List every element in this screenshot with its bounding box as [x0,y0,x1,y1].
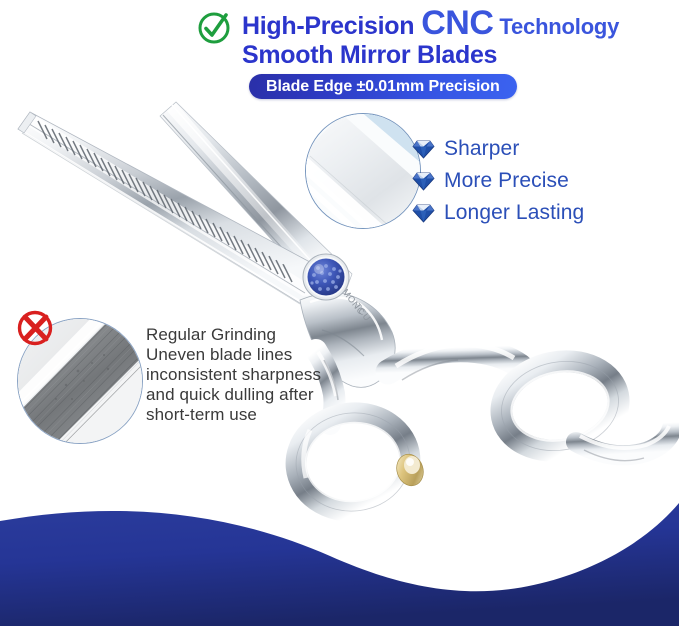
drawback-line: and quick dulling after [146,385,356,405]
product-feature-graphic: MONC TCU [0,0,679,626]
precision-badge: Blade Edge ±0.01mm Precision [249,74,517,99]
diamond-icon [412,171,435,191]
benefits-list: Sharper More Precise Longer Last [412,134,662,230]
green-check-circle-icon [196,10,232,46]
headline-block: High-PrecisionCNCTechnology Smooth Mirro… [196,4,679,70]
drawback-text-block: Regular Grinding Uneven blade lines inco… [146,325,356,425]
benefit-item-longer-lasting: Longer Lasting [412,198,662,228]
thinning-blade [18,112,336,304]
headline-smooth-mirror-blades: Smooth Mirror Blades [242,41,497,69]
drawback-line: short-term use [146,405,356,425]
precision-badge-label: Blade Edge ±0.01mm Precision [266,79,500,95]
drawback-line: Regular Grinding [146,325,356,345]
benefit-item-sharper: Sharper [412,134,662,164]
drawback-line: Uneven blade lines [146,345,356,365]
headline-high-precision: High-Precision [242,12,414,40]
red-x-circle-icon [15,308,55,348]
headline-technology: Technology [499,14,619,39]
headline-cnc: CNC [421,4,493,42]
drawback-line: inconsistent sharpness [146,365,356,385]
pivot-screw-gem-icon [303,254,349,300]
benefit-label: Sharper [444,137,519,161]
benefit-label: Longer Lasting [444,201,584,225]
diamond-icon [412,203,435,223]
smooth-mirror-blade-closeup [305,113,421,229]
diamond-icon [412,139,435,159]
benefit-item-more-precise: More Precise [412,166,662,196]
benefit-label: More Precise [444,169,569,193]
right-handle-arm [388,345,520,380]
